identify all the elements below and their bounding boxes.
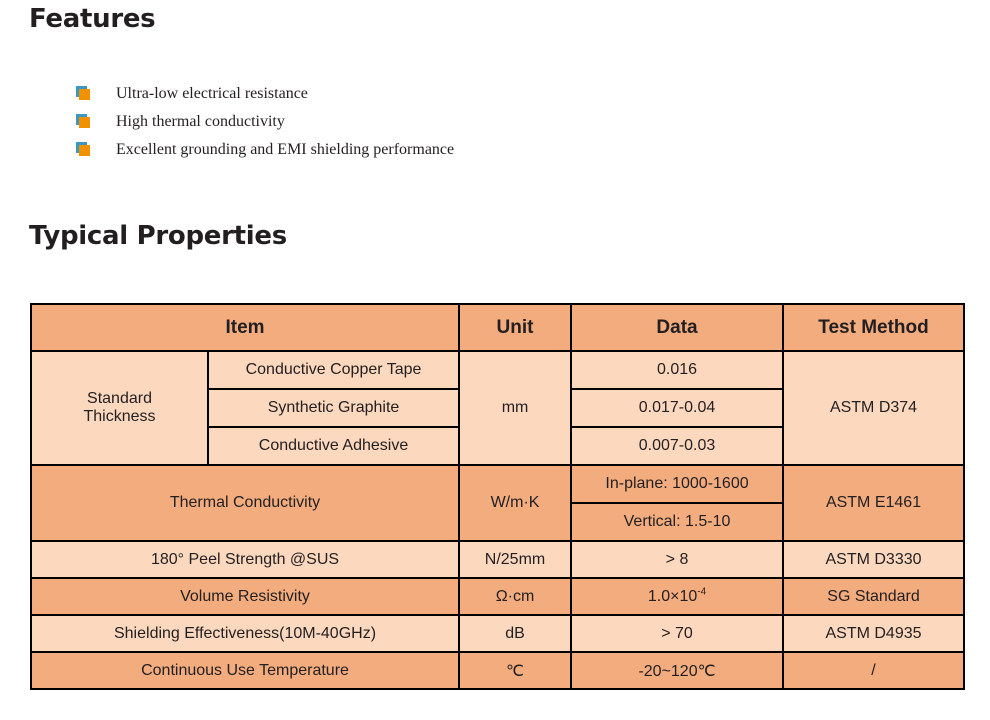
unit-value: W/m·K	[459, 465, 571, 541]
table-header-row: Item Unit Data Test Method	[31, 304, 964, 351]
column-header-data: Data	[571, 304, 783, 351]
data-value: Vertical: 1.5-10	[571, 503, 783, 541]
unit-value: ℃	[459, 652, 571, 689]
data-value-base: 1.0×10	[648, 588, 697, 605]
table-row: 180° Peel Strength @SUS N/25mm > 8 ASTM …	[31, 541, 964, 578]
sub-item-label: Conductive Adhesive	[208, 427, 459, 465]
data-value: 0.017-0.04	[571, 389, 783, 427]
data-value: 0.007-0.03	[571, 427, 783, 465]
feature-label: High thermal conductivity	[116, 108, 285, 136]
column-header-unit: Unit	[459, 304, 571, 351]
column-header-test-method: Test Method	[783, 304, 964, 351]
column-header-item: Item	[31, 304, 459, 351]
item-label: Continuous Use Temperature	[31, 652, 459, 689]
table-row: Standard Thickness Conductive Copper Tap…	[31, 351, 964, 389]
data-value: > 8	[571, 541, 783, 578]
item-label: 180° Peel Strength @SUS	[31, 541, 459, 578]
feature-label: Excellent grounding and EMI shielding pe…	[116, 136, 454, 164]
table-row: Continuous Use Temperature ℃ -20~120℃ /	[31, 652, 964, 689]
item-label: Volume Resistivity	[31, 578, 459, 615]
test-method-value: ASTM D3330	[783, 541, 964, 578]
table-row: Thermal Conductivity W/m·K In-plane: 100…	[31, 465, 964, 503]
row-group-standard-thickness: Standard Thickness	[31, 351, 208, 465]
square-bullet-icon	[76, 142, 91, 157]
unit-value: mm	[459, 351, 571, 465]
group-label-line2: Thickness	[83, 408, 155, 425]
features-heading: Features	[29, 4, 155, 34]
data-value: -20~120℃	[571, 652, 783, 689]
typical-properties-table: Item Unit Data Test Method Standard Thic…	[30, 303, 965, 690]
test-method-value: ASTM E1461	[783, 465, 964, 541]
data-value-exponent: -4	[697, 586, 706, 597]
sub-item-label: Conductive Copper Tape	[208, 351, 459, 389]
typical-properties-heading: Typical Properties	[29, 221, 287, 251]
data-value: > 70	[571, 615, 783, 652]
unit-value: Ω·cm	[459, 578, 571, 615]
square-bullet-icon	[76, 86, 91, 101]
unit-value: N/25mm	[459, 541, 571, 578]
table-row: Volume Resistivity Ω·cm 1.0×10-4 SG Stan…	[31, 578, 964, 615]
test-method-value: /	[783, 652, 964, 689]
feature-label: Ultra-low electrical resistance	[116, 80, 308, 108]
table-row: Shielding Effectiveness(10M-40GHz) dB > …	[31, 615, 964, 652]
group-label-line1: Standard	[87, 390, 152, 407]
data-value: In-plane: 1000-1600	[571, 465, 783, 503]
item-label: Shielding Effectiveness(10M-40GHz)	[31, 615, 459, 652]
data-value: 1.0×10-4	[571, 578, 783, 615]
item-label: Thermal Conductivity	[31, 465, 459, 541]
test-method-value: ASTM D4935	[783, 615, 964, 652]
square-bullet-icon	[76, 114, 91, 129]
test-method-value: SG Standard	[783, 578, 964, 615]
sub-item-label: Synthetic Graphite	[208, 389, 459, 427]
unit-value: dB	[459, 615, 571, 652]
data-value: 0.016	[571, 351, 783, 389]
test-method-value: ASTM D374	[783, 351, 964, 465]
